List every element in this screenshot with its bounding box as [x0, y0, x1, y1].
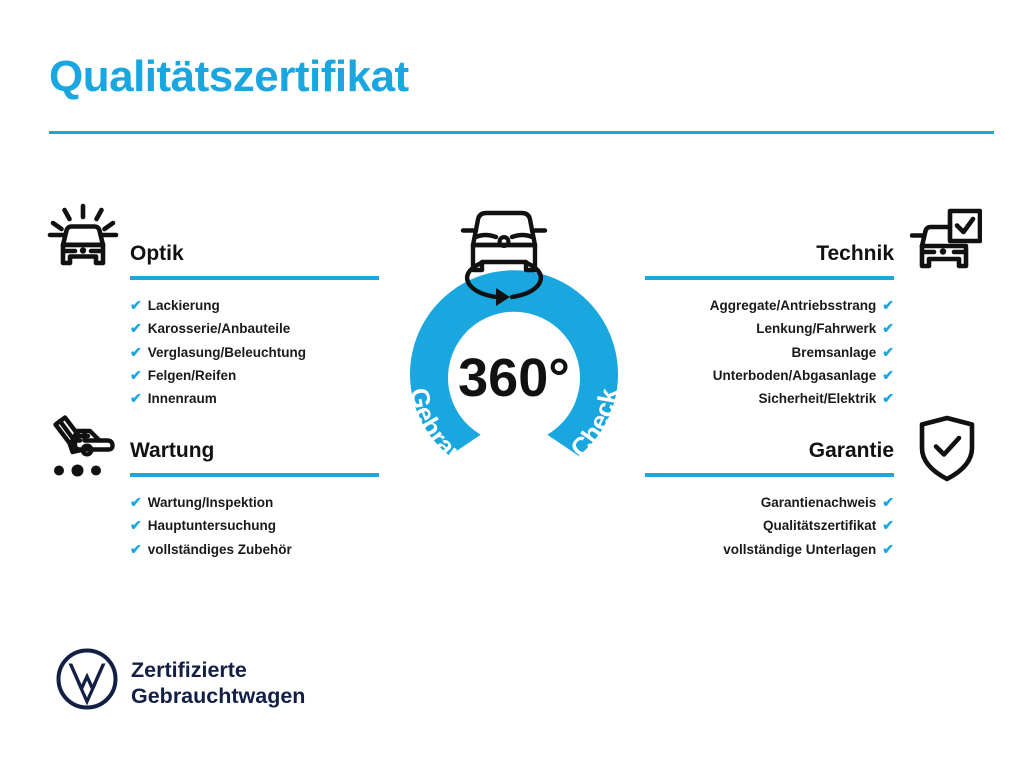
certificate-page: Qualitätszertifikat Optik [0, 0, 1024, 768]
section-garantie-header: Garantie [645, 437, 894, 477]
vw-logo-icon [56, 648, 118, 710]
list-item: ✔ Hauptuntersuchung [130, 514, 379, 537]
check-icon: ✔ [130, 294, 142, 317]
section-optik-header: Optik [130, 240, 379, 280]
list-item-label: Lenkung/Fahrwerk [756, 317, 876, 340]
list-item-label: Garantienachweis [761, 491, 877, 514]
list-item-label: Bremsanlage [791, 341, 876, 364]
check-icon: ✔ [130, 514, 142, 537]
section-technik-header: Technik [645, 240, 894, 280]
list-item: Bremsanlage ✔ [645, 341, 894, 364]
list-item: Lenkung/Fahrwerk ✔ [645, 317, 894, 340]
list-item-label: Hauptuntersuchung [148, 514, 276, 537]
check-icon: ✔ [882, 514, 894, 537]
list-item: ✔ Wartung/Inspektion [130, 491, 379, 514]
section-garantie-items: Garantienachweis ✔ Qualitätszertifikat ✔… [645, 491, 894, 561]
car-checkbox-icon [910, 208, 982, 278]
section-technik-items: Aggregate/Antriebsstrang ✔ Lenkung/Fahrw… [645, 294, 894, 410]
section-wartung-items: ✔ Wartung/Inspektion ✔ Hauptuntersuchung… [130, 491, 379, 561]
section-underline [645, 473, 894, 477]
section-wartung-header: Wartung [130, 437, 379, 477]
section-technik-title: Technik [645, 240, 894, 268]
page-title: Qualitätszertifikat [49, 54, 409, 100]
list-item: ✔ Karosserie/Anbauteile [130, 317, 379, 340]
footer-brand-text: Zertifizierte Gebrauchtwagen [131, 657, 305, 709]
list-item: Unterboden/Abgasanlage ✔ [645, 364, 894, 387]
list-item: Aggregate/Antriebsstrang ✔ [645, 294, 894, 317]
list-item-label: Qualitätszertifikat [763, 514, 876, 537]
section-underline [645, 276, 894, 280]
list-item-label: vollständige Unterlagen [723, 538, 876, 561]
check-icon: ✔ [130, 387, 142, 410]
check-icon: ✔ [882, 341, 894, 364]
section-wartung-title: Wartung [130, 437, 379, 465]
check-icon: ✔ [882, 317, 894, 340]
list-item: ✔ Lackierung [130, 294, 379, 317]
check-icon: ✔ [130, 341, 142, 364]
shield-check-icon [916, 414, 978, 484]
section-optik-title: Optik [130, 240, 379, 268]
section-underline [130, 276, 379, 280]
list-item-label: Unterboden/Abgasanlage [713, 364, 877, 387]
list-item: ✔ vollständiges Zubehör [130, 538, 379, 561]
check-icon: ✔ [130, 491, 142, 514]
list-item-label: Innenraum [148, 387, 217, 410]
check-icon: ✔ [130, 317, 142, 340]
list-item: Sicherheit/Elektrik ✔ [645, 387, 894, 410]
section-garantie-title: Garantie [645, 437, 894, 465]
list-item-label: Aggregate/Antriebsstrang [710, 294, 877, 317]
section-wartung: Wartung ✔ Wartung/Inspektion ✔ Hauptunte… [130, 437, 379, 561]
list-item: ✔ Verglasung/Beleuchtung [130, 341, 379, 364]
list-item: ✔ Felgen/Reifen [130, 364, 379, 387]
check-icon: ✔ [130, 364, 142, 387]
list-item-label: Karosserie/Anbauteile [148, 317, 291, 340]
list-item: ✔ Innenraum [130, 387, 379, 410]
360-check-badge: Gebrauchtwagen-Check 360° [376, 196, 652, 486]
badge-center-text: 360° [458, 348, 570, 408]
check-icon: ✔ [882, 294, 894, 317]
footer-line-1: Zertifizierte [131, 657, 305, 683]
check-icon: ✔ [882, 491, 894, 514]
section-underline [130, 473, 379, 477]
list-item-label: Sicherheit/Elektrik [758, 387, 876, 410]
section-technik: Technik Aggregate/Antriebsstrang ✔ Lenku… [645, 240, 894, 410]
list-item: Garantienachweis ✔ [645, 491, 894, 514]
list-item-label: Felgen/Reifen [148, 364, 237, 387]
list-item-label: Wartung/Inspektion [148, 491, 274, 514]
check-icon: ✔ [882, 538, 894, 561]
list-item-label: vollständiges Zubehör [148, 538, 292, 561]
car-polish-icon [46, 203, 120, 277]
list-item: vollständige Unterlagen ✔ [645, 538, 894, 561]
section-optik-items: ✔ Lackierung ✔ Karosserie/Anbauteile ✔ V… [130, 294, 379, 410]
pencil-car-service-icon [46, 414, 120, 482]
list-item-label: Verglasung/Beleuchtung [148, 341, 306, 364]
check-icon: ✔ [882, 364, 894, 387]
section-optik: Optik ✔ Lackierung ✔ Karosserie/Anbautei… [130, 240, 379, 410]
title-divider [49, 131, 994, 134]
check-icon: ✔ [130, 538, 142, 561]
footer-line-2: Gebrauchtwagen [131, 683, 305, 709]
check-icon: ✔ [882, 387, 894, 410]
section-garantie: Garantie Garantienachweis ✔ Qualitätszer… [645, 437, 894, 561]
list-item-label: Lackierung [148, 294, 220, 317]
list-item: Qualitätszertifikat ✔ [645, 514, 894, 537]
